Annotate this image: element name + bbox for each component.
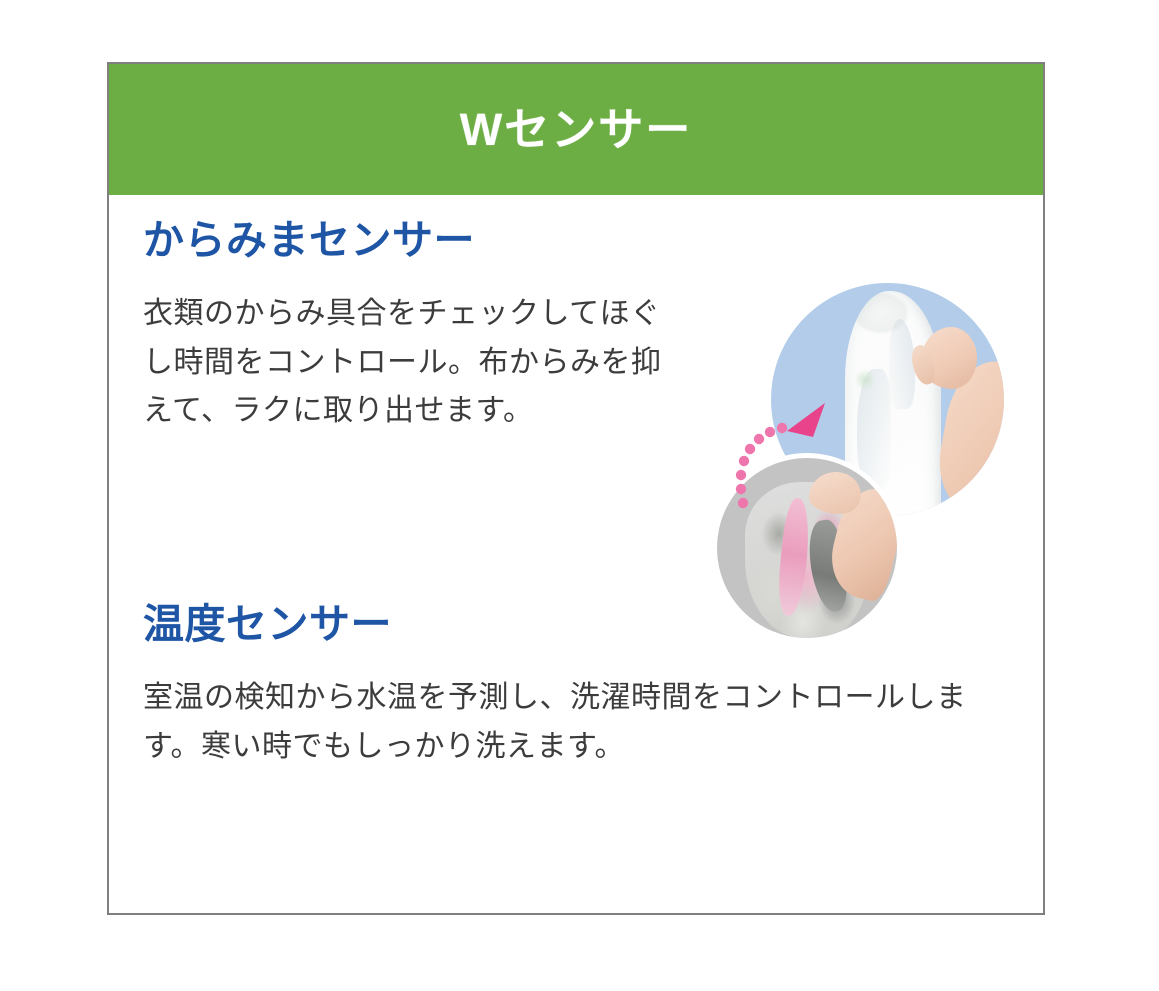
section-body-temperature: 室温の検知から水温を予測し、洗濯時間をコントロールします。寒い時でもしっかり洗え…	[143, 674, 1011, 771]
section-body-tangle: 衣類のからみ具合をチェックしてほぐし時間をコントロール。布からみを抑えて、ラクに…	[143, 290, 663, 436]
section-sensor-tangle: からみまセンサー 衣類のからみ具合をチェックしてほぐし時間をコントロール。布から…	[143, 217, 663, 436]
card-body: からみまセンサー 衣類のからみ具合をチェックしてほぐし時間をコントロール。布から…	[109, 195, 1043, 913]
curved-dotted-arrow-icon	[729, 375, 859, 515]
illustration-photo-cluster	[709, 283, 1014, 638]
w-sensor-card: Wセンサー からみまセンサー 衣類のからみ具合をチェックしてほぐし時間をコントロ…	[107, 62, 1045, 915]
card-header: Wセンサー	[109, 64, 1043, 195]
section-heading-tangle: からみまセンサー	[143, 217, 663, 264]
card-header-title: Wセンサー	[460, 107, 692, 152]
